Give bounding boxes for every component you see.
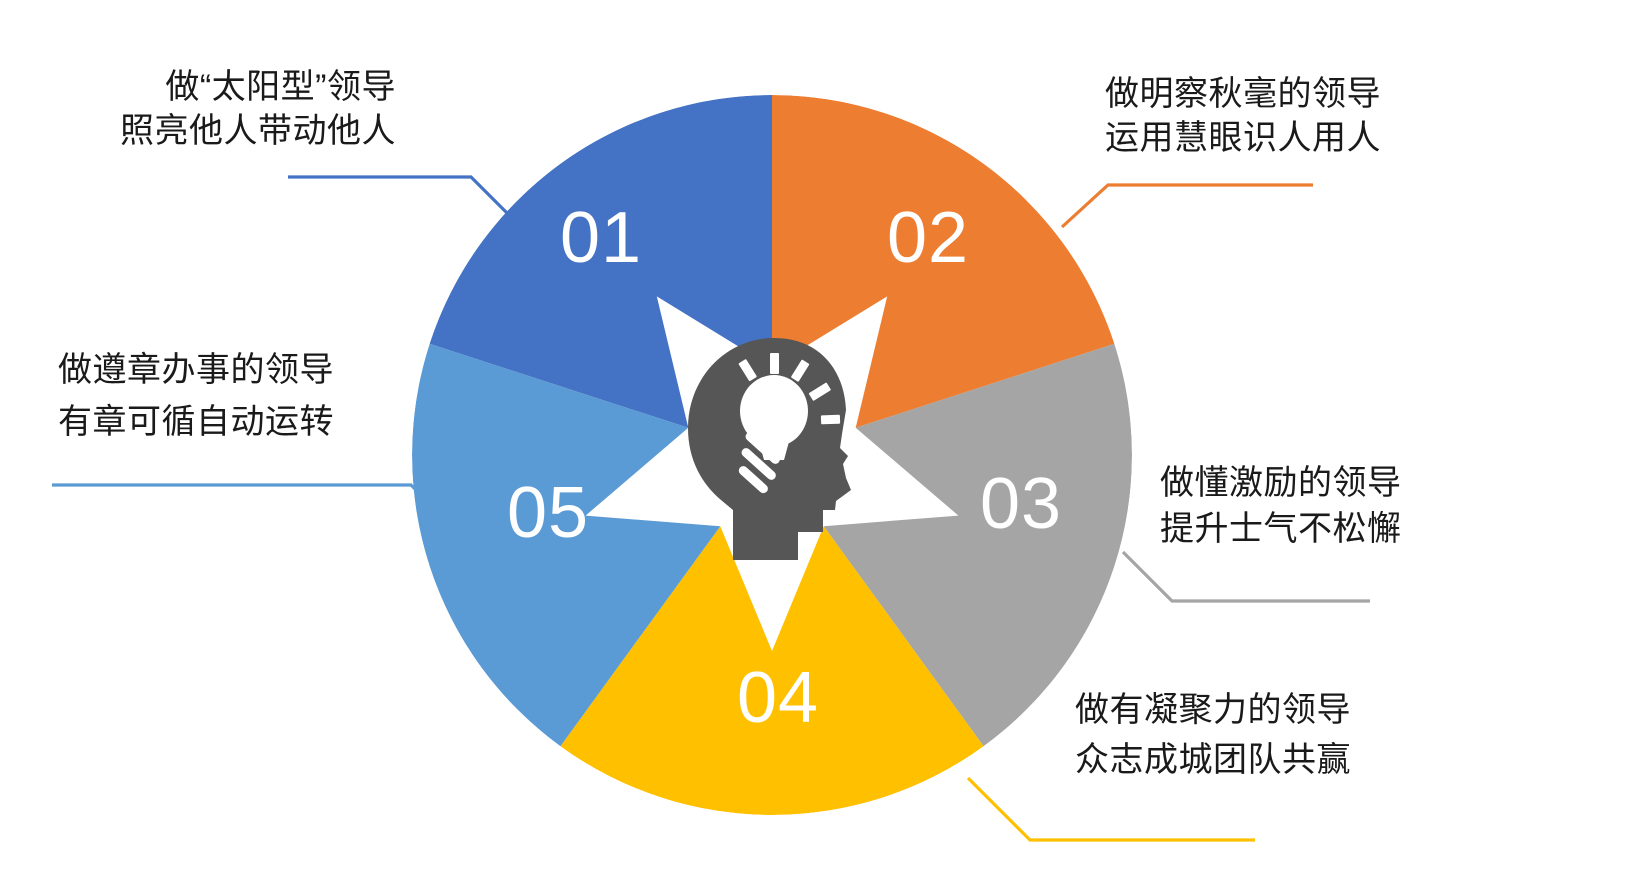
callout-03-title: 做懂激励的领导 [1160, 460, 1402, 506]
callout-05: 做遵章办事的领导 有章可循自动运转 [58, 345, 334, 448]
segment-01-number: 01 [560, 198, 642, 278]
callout-03-subtitle: 提升士气不松懈 [1160, 506, 1402, 552]
callout-01-title: 做“太阳型”领导 [120, 65, 396, 109]
segment-02-number: 02 [887, 198, 969, 278]
leader-line-01 [288, 177, 516, 222]
infographic-canvas: 01 02 03 04 05 [0, 0, 1635, 886]
callout-04-subtitle: 众志成城团队共赢 [1075, 735, 1351, 785]
callout-01: 做“太阳型”领导 照亮他人带动他人 [120, 65, 396, 153]
leader-line-05 [52, 485, 452, 526]
callout-02-title: 做明察秋毫的领导 [1105, 72, 1381, 116]
segment-05-number: 05 [507, 473, 589, 553]
leader-line-03 [1123, 552, 1370, 601]
callout-02-subtitle: 运用慧眼识人用人 [1105, 116, 1381, 160]
callout-05-subtitle: 有章可循自动运转 [58, 397, 334, 449]
segment-04-number: 04 [737, 658, 819, 738]
leader-line-02 [1062, 185, 1313, 227]
callout-04-title: 做有凝聚力的领导 [1075, 685, 1351, 735]
callout-05-title: 做遵章办事的领导 [58, 345, 334, 397]
leader-line-04 [968, 778, 1255, 840]
callout-04: 做有凝聚力的领导 众志成城团队共赢 [1075, 685, 1351, 786]
callout-02: 做明察秋毫的领导 运用慧眼识人用人 [1105, 72, 1381, 160]
segment-03-number: 03 [980, 464, 1062, 544]
callout-01-subtitle: 照亮他人带动他人 [120, 109, 396, 153]
callout-03: 做懂激励的领导 提升士气不松懈 [1160, 460, 1402, 552]
